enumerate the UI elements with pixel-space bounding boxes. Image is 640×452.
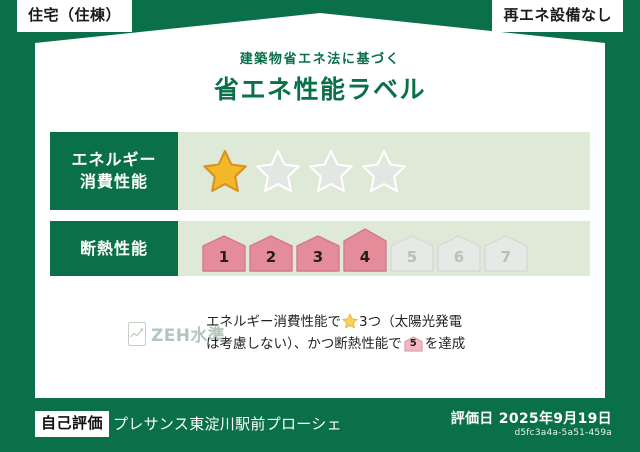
evaluation-date-label: 評価日: [451, 411, 494, 427]
insulation-performance-label: 断熱性能: [50, 221, 178, 276]
zeh-section: ZEH水準 エネルギー消費性能で3つ（太陽光発電 は考慮しない）、かつ断熱性能で…: [50, 312, 590, 356]
grade-badge-3: 3: [296, 235, 340, 272]
star-empty-icon: [361, 148, 407, 194]
renewable-energy-tag: 再エネ設備なし: [492, 0, 623, 32]
title-main: 省エネ性能ラベル: [35, 74, 605, 105]
evaluation-date-value: 2025年9月19日: [499, 411, 612, 427]
zeh-desc-part3: は考慮しない）、かつ断熱性能で: [206, 336, 402, 352]
grade-badge-number: 4: [343, 248, 387, 266]
zeh-description: エネルギー消費性能で3つ（太陽光発電 は考慮しない）、かつ断熱性能で5を達成: [200, 312, 590, 356]
rating-rows: エネルギー 消費性能 断熱性能 1234567: [50, 132, 590, 287]
grade-badge-number: 3: [296, 248, 340, 266]
evaluation-id: d5fc3a4a-5a51-459a: [514, 428, 612, 438]
grade-badge-number: 2: [249, 248, 293, 266]
zeh-desc-part1: エネルギー消費性能で: [206, 314, 341, 330]
insulation-performance-value: 1234567: [178, 221, 590, 276]
title-subtitle: 建築物省エネ法に基づく: [35, 52, 605, 68]
label-footer: 自己評価 プレサンス東淀川駅前プローシェ 評価日 2025年9月19日 d5fc…: [0, 398, 640, 452]
zeh-desc-part2: 3つ（太陽光発電: [359, 314, 462, 330]
building-type-tag: 住宅（住棟）: [17, 0, 132, 32]
evaluation-date: 評価日 2025年9月19日: [451, 408, 612, 428]
insulation-label-line1: 断熱性能: [80, 238, 148, 260]
inline-star-icon: [342, 313, 358, 329]
grade-badge-number: 6: [437, 248, 481, 266]
page-title: 建築物省エネ法に基づく 省エネ性能ラベル: [35, 52, 605, 105]
grade-badge-7: 7: [484, 235, 528, 272]
building-name: プレサンス東淀川駅前プローシェ: [113, 413, 342, 434]
grade-badge-number: 1: [202, 248, 246, 266]
inline-grade-badge: 5: [404, 336, 423, 352]
grade-badge-1: 1: [202, 235, 246, 272]
grade-badge-4: 4: [343, 228, 387, 272]
energy-performance-row: エネルギー 消費性能: [50, 132, 590, 210]
zeh-mark: ZEH水準: [50, 321, 200, 346]
star-rating: [202, 148, 414, 194]
energy-performance-value: [178, 132, 590, 210]
grade-badge-5: 5: [390, 235, 434, 272]
grade-badge-2: 2: [249, 235, 293, 272]
grade-badge-scale: 1234567: [202, 226, 531, 272]
star-filled-icon: [202, 148, 248, 194]
energy-performance-label: エネルギー 消費性能: [50, 132, 178, 210]
grade-badge-number: 5: [390, 248, 434, 266]
zeh-chart-icon: [128, 322, 146, 346]
inline-grade-number: 5: [404, 336, 423, 352]
star-empty-icon: [255, 148, 301, 194]
grade-badge-6: 6: [437, 235, 481, 272]
zeh-desc-part4: を達成: [425, 336, 466, 352]
grade-badge-number: 7: [484, 248, 528, 266]
self-evaluation-badge: 自己評価: [35, 411, 109, 437]
energy-label-line2: 消費性能: [80, 171, 148, 193]
energy-performance-label: 住宅（住棟） 再エネ設備なし 建築物省エネ法に基づく 省エネ性能ラベル エネルギ…: [0, 0, 640, 452]
insulation-performance-row: 断熱性能 1234567: [50, 221, 590, 276]
energy-label-line1: エネルギー: [71, 149, 156, 171]
star-empty-icon: [308, 148, 354, 194]
